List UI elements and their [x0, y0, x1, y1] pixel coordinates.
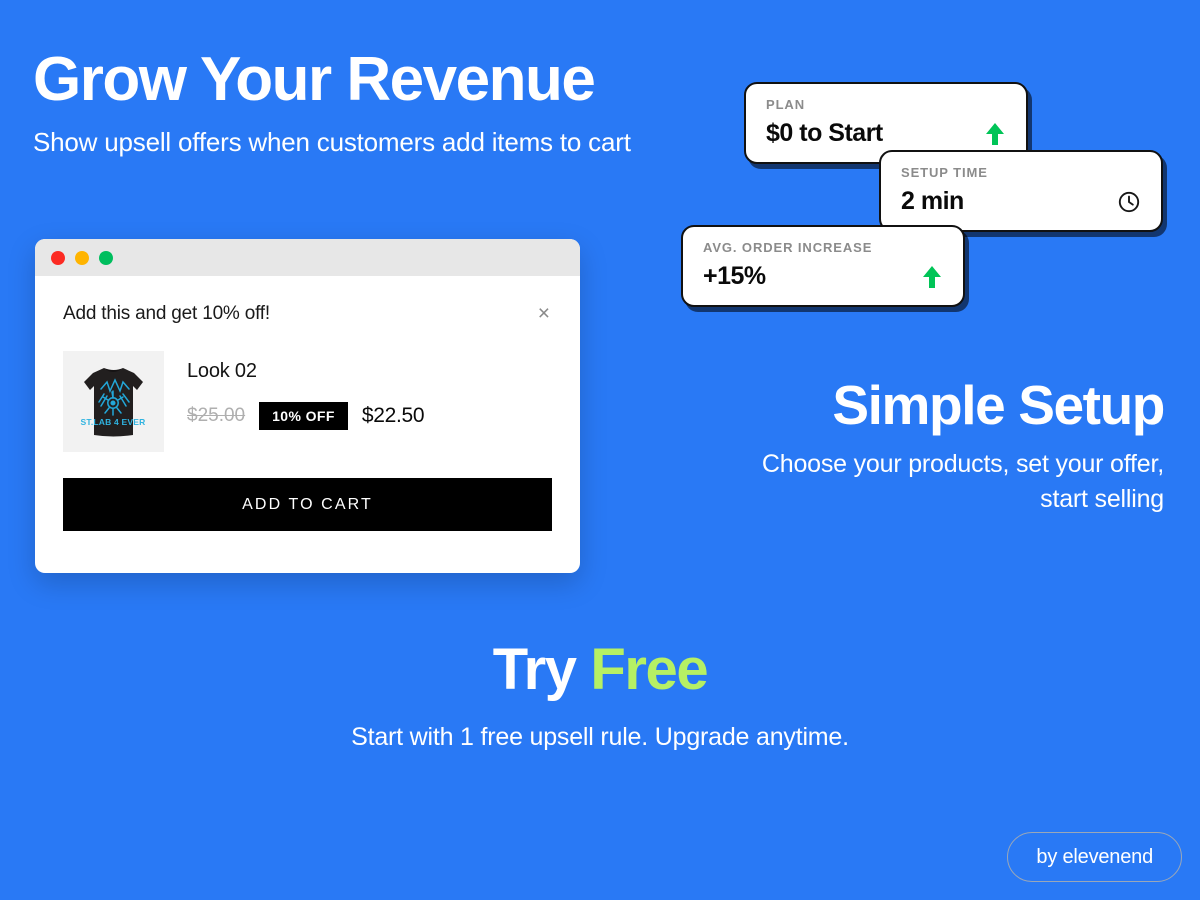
product-title: Look 02 [187, 360, 424, 383]
discounted-price: $22.50 [362, 404, 424, 428]
setup-title: Simple Setup [724, 378, 1164, 433]
original-price: $25.00 [187, 405, 245, 427]
offer-headline: Add this and get 10% off! [63, 303, 270, 325]
stat-card-avg-order-increase: AVG. ORDER INCREASE +15% [681, 225, 965, 307]
add-to-cart-button[interactable]: ADD TO CART [63, 478, 552, 531]
arrow-up-icon [984, 121, 1006, 147]
browser-mockup: Add this and get 10% off! × [35, 239, 580, 573]
offer-header-row: Add this and get 10% off! × [63, 303, 552, 325]
close-icon[interactable]: × [536, 303, 552, 324]
stat-value: 2 min [901, 187, 964, 216]
stat-value: $0 to Start [766, 119, 883, 148]
stat-value: +15% [703, 262, 766, 291]
stat-value-row: $0 to Start [766, 119, 1006, 148]
clock-icon [1117, 190, 1141, 214]
svg-text:ST.LAB 4 EVER: ST.LAB 4 EVER [81, 417, 146, 427]
cta-title-accent: Free [590, 637, 707, 702]
window-minimize-dot-icon[interactable] [75, 251, 89, 265]
window-maximize-dot-icon[interactable] [99, 251, 113, 265]
hero-subtitle: Show upsell offers when customers add it… [33, 125, 673, 161]
cta-section: Try Free Start with 1 free upsell rule. … [0, 640, 1200, 755]
stat-card-setup-time: SETUP TIME 2 min [879, 150, 1163, 232]
cta-title: Try Free [0, 640, 1200, 701]
slide-canvas: Grow Your Revenue Show upsell offers whe… [0, 0, 1200, 900]
product-thumbnail[interactable]: ST.LAB 4 EVER [63, 351, 164, 452]
stat-label: PLAN [766, 97, 1006, 112]
stat-label: SETUP TIME [901, 165, 1141, 180]
price-row: $25.00 10% OFF $22.50 [187, 402, 424, 430]
stat-label: AVG. ORDER INCREASE [703, 240, 943, 255]
page-title: Grow Your Revenue [33, 49, 673, 111]
product-info: Look 02 $25.00 10% OFF $22.50 [187, 351, 424, 430]
upsell-modal: Add this and get 10% off! × [35, 276, 580, 531]
browser-title-bar [35, 239, 580, 276]
setup-subtitle: Choose your products, set your offer, st… [724, 447, 1164, 516]
discount-badge: 10% OFF [259, 402, 348, 430]
product-row: ST.LAB 4 EVER Look 02 $25.00 10% OFF $22… [63, 351, 552, 452]
hero-section: Grow Your Revenue Show upsell offers whe… [33, 49, 673, 161]
stat-value-row: +15% [703, 262, 943, 291]
setup-section: Simple Setup Choose your products, set y… [724, 378, 1164, 516]
arrow-up-icon [921, 264, 943, 290]
by-elevenend-badge[interactable]: by elevenend [1007, 832, 1182, 882]
stat-value-row: 2 min [901, 187, 1141, 216]
window-close-dot-icon[interactable] [51, 251, 65, 265]
cta-subtitle: Start with 1 free upsell rule. Upgrade a… [328, 719, 873, 755]
cta-title-plain: Try [493, 637, 591, 702]
